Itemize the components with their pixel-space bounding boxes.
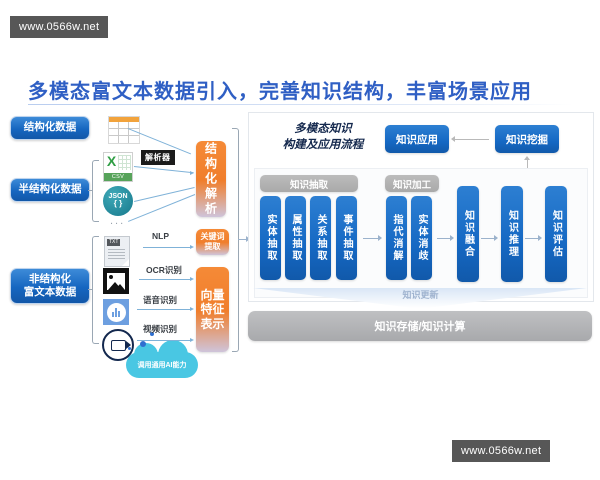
connector-line — [134, 187, 195, 202]
excel-x-glyph: X — [105, 154, 118, 170]
storage-compute-bar[interactable]: 知识存储/知识计算 — [248, 311, 592, 341]
feed-arrow — [190, 277, 194, 281]
feed-arrow — [190, 307, 194, 311]
source-label: 非结构化 富文本数据 — [24, 273, 77, 299]
feed-line — [143, 247, 191, 248]
txt-label: TXT — [107, 239, 120, 246]
json-braces: { } — [114, 200, 122, 208]
group-label: 知识抽取 — [290, 177, 328, 191]
connector-arrow — [494, 235, 498, 241]
orange-label: 结构化解析 — [203, 142, 220, 217]
source-semi-structured-data[interactable]: 半结构化数据 — [10, 178, 90, 202]
connector-line — [363, 238, 379, 239]
step-label: 知识推理 — [505, 210, 520, 258]
step-relation-extraction[interactable]: 关系抽取 — [310, 196, 331, 280]
connector-line — [455, 139, 489, 140]
page-title: 多模态富文本数据引入，完善知识结构，丰富场景应用 — [28, 75, 573, 104]
step-label: 指代消解 — [389, 214, 404, 262]
step-label: 知识融合 — [461, 210, 476, 258]
step-label: 事件抽取 — [339, 214, 354, 262]
label-speech: 语音识别 — [143, 294, 177, 306]
connector-arrow — [451, 136, 455, 142]
step-label: 关系抽取 — [313, 214, 328, 262]
orange-label: 向量 特征 表示 — [200, 288, 224, 331]
connector-line — [437, 238, 451, 239]
connector-arrow — [190, 171, 194, 175]
connector-arrow — [378, 235, 382, 241]
connector-line — [481, 238, 495, 239]
audio-icon — [103, 299, 129, 325]
group-header-processing: 知识加工 — [385, 175, 439, 192]
feed-line — [139, 279, 191, 280]
bracket-nub — [88, 190, 93, 191]
source-label: 结构化数据 — [24, 121, 77, 134]
title-divider — [28, 104, 573, 105]
parser-tag: 解析器 — [141, 150, 175, 165]
csv-label: CSV — [104, 173, 132, 181]
connector-line — [128, 194, 195, 222]
ai-capability-cloud[interactable]: 调用通用AI能力 — [126, 352, 198, 378]
bubble-dot — [140, 341, 146, 347]
orange-keyword-extraction[interactable]: 关键词 提取 — [196, 229, 229, 255]
txt-document-icon: TXT — [104, 236, 130, 267]
feed-arrow — [190, 245, 194, 249]
bracket-semi-structured — [92, 160, 99, 222]
panel-title: 多模态知识 构建及应用流程 — [268, 122, 378, 153]
knowledge-update-label: 知识更新 — [363, 288, 478, 301]
cloud-label: 调用通用AI能力 — [138, 360, 187, 370]
image-icon — [103, 268, 129, 294]
step-label: 知识评估 — [549, 210, 564, 258]
step-coreference-resolution[interactable]: 指代消解 — [386, 196, 407, 280]
step-entity-disambiguation[interactable]: 实体消歧 — [411, 196, 432, 280]
panel-title-line2: 构建及应用流程 — [268, 138, 378, 154]
csv-excel-icon: X CSV — [103, 152, 133, 182]
label-ocr: OCR识别 — [146, 264, 182, 276]
orange-vector-feature[interactable]: 向量 特征 表示 — [196, 267, 229, 352]
source-label: 半结构化数据 — [19, 183, 82, 196]
label-nlp: NLP — [152, 231, 169, 241]
group-header-extraction: 知识抽取 — [260, 175, 358, 192]
watermark-top-left: www.0566w.net — [10, 16, 108, 38]
bracket-unstructured — [92, 236, 99, 344]
source-structured-data[interactable]: 结构化数据 — [10, 116, 90, 140]
slide-canvas: www.0566w.net www.0566w.net 多模态富文本数据引入，完… — [0, 0, 600, 480]
orange-label: 关键词 提取 — [201, 232, 225, 251]
bubble-dot — [128, 347, 131, 350]
step-label: 实体消歧 — [414, 214, 429, 262]
bracket-nub — [88, 289, 93, 290]
json-icon: JSON { } — [103, 186, 133, 216]
step-knowledge-evaluation[interactable]: 知识评估 — [545, 186, 567, 282]
feed-arrow — [190, 338, 194, 342]
feed-line — [137, 309, 191, 310]
step-knowledge-fusion[interactable]: 知识融合 — [457, 186, 479, 282]
step-attribute-extraction[interactable]: 属性抽取 — [285, 196, 306, 280]
step-knowledge-reasoning[interactable]: 知识推理 — [501, 186, 523, 282]
connector-arrow — [538, 235, 542, 241]
source-unstructured-data[interactable]: 非结构化 富文本数据 — [10, 268, 90, 304]
orange-structured-parsing[interactable]: 结构化解析 — [196, 141, 226, 217]
node-label: 知识挖掘 — [506, 132, 548, 147]
group-label: 知识加工 — [393, 177, 431, 191]
label-video: 视频识别 — [143, 323, 177, 335]
panel-title-line1: 多模态知识 — [268, 122, 378, 138]
ellipsis: ... — [110, 215, 125, 227]
connector-line — [134, 166, 194, 173]
storage-label: 知识存储/知识计算 — [374, 318, 465, 334]
step-label: 实体抽取 — [263, 214, 278, 262]
watermark-bottom-right: www.0566w.net — [452, 440, 550, 462]
connector-line — [525, 238, 539, 239]
step-event-extraction[interactable]: 事件抽取 — [336, 196, 357, 280]
step-label: 属性抽取 — [288, 214, 303, 262]
bracket-to-panel — [232, 128, 239, 352]
node-label: 知识应用 — [396, 132, 438, 147]
connector-arrow — [450, 235, 454, 241]
node-knowledge-application[interactable]: 知识应用 — [385, 125, 449, 153]
node-knowledge-mining[interactable]: 知识挖掘 — [495, 125, 559, 153]
connector-arrow — [524, 156, 530, 160]
feed-line — [137, 340, 191, 341]
step-entity-extraction[interactable]: 实体抽取 — [260, 196, 281, 280]
